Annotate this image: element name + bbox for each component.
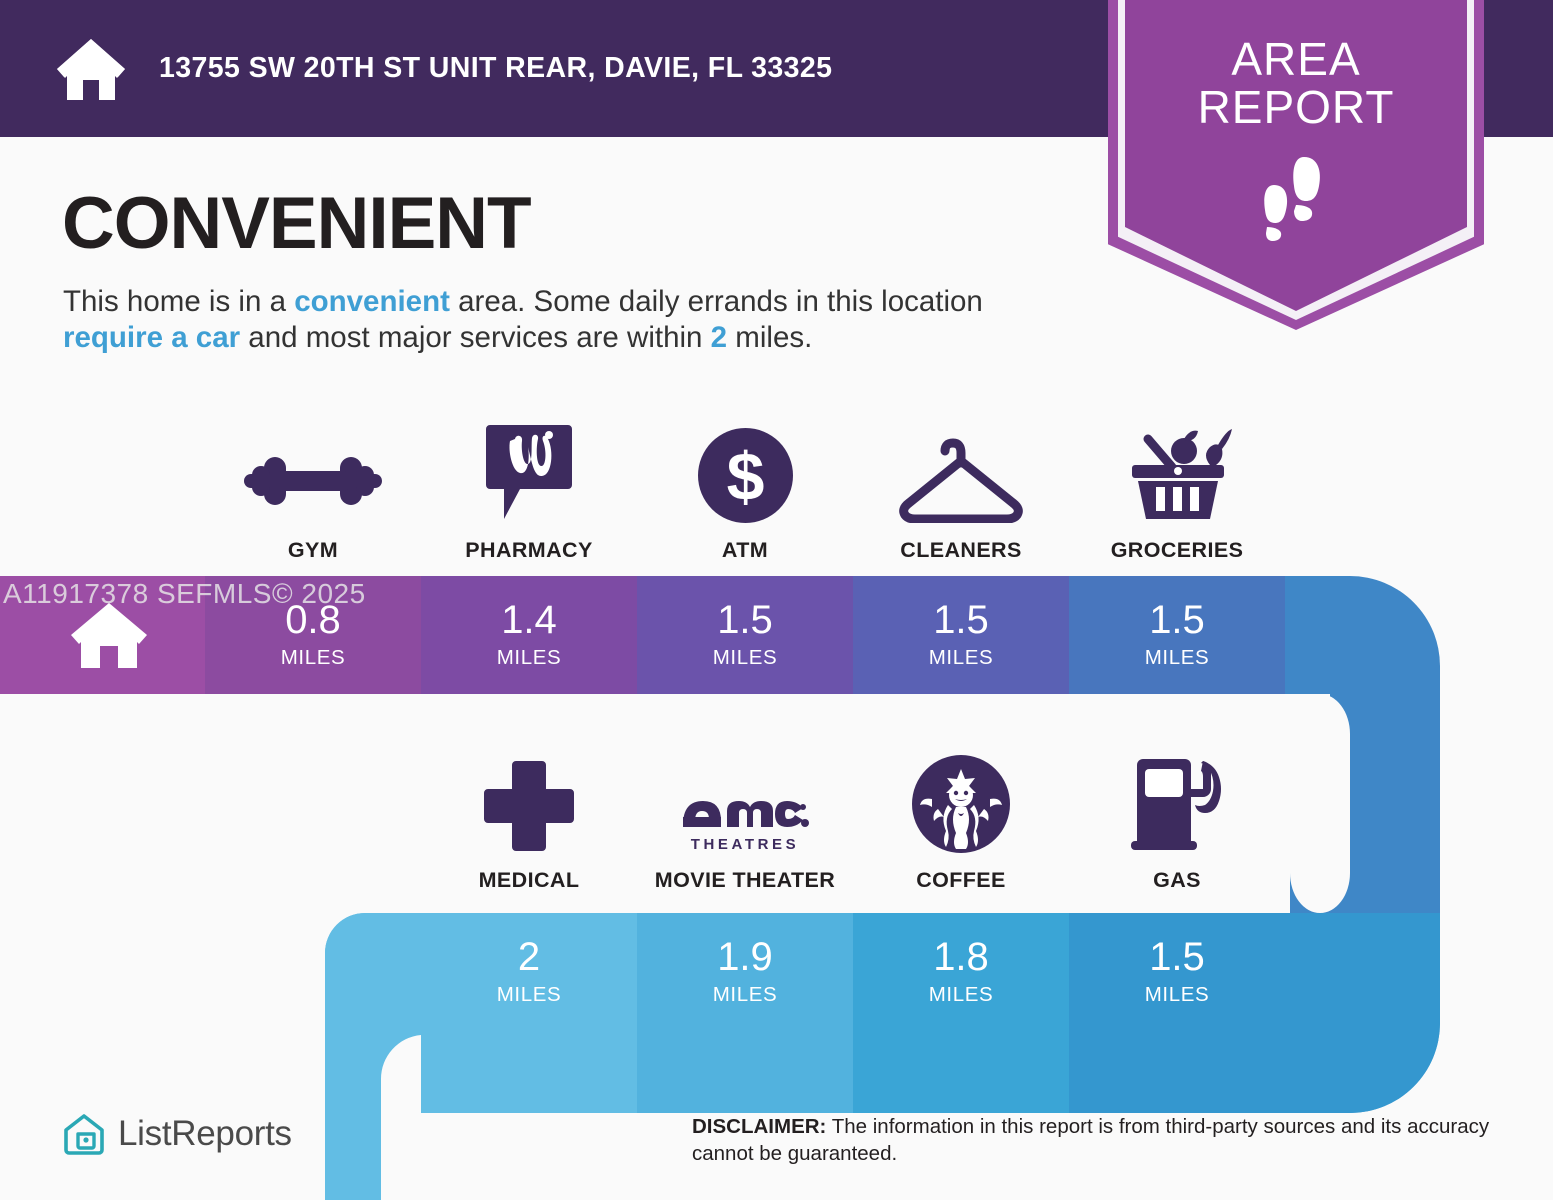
banner-title: AREA REPORT <box>1108 36 1484 132</box>
starbucks-icon <box>912 745 1010 853</box>
listreports-logo-text: ListReports <box>118 1114 292 1154</box>
amenity-label: MOVIE THEATER <box>655 868 835 893</box>
home-icon <box>55 36 127 102</box>
distance-unit: MILES <box>929 983 994 1007</box>
amenity-groceries: GROCERIES <box>1069 415 1285 563</box>
amenity-atm: $ ATM <box>637 415 853 563</box>
distance-cell-medical: 2 MILES <box>421 913 637 1031</box>
distance-cell-gas: 1.5 MILES <box>1069 913 1285 1031</box>
banner-line-2: REPORT <box>1108 84 1484 132</box>
distance-value: 1.5 <box>933 600 989 640</box>
amenity-icon-row-2: MEDICAL THEATRES MOVIE THEATER <box>421 745 1285 893</box>
subtitle-part-1: This home is in a <box>63 285 294 318</box>
amenity-label: MEDICAL <box>479 868 580 893</box>
dollar-circle-icon: $ <box>698 415 793 523</box>
amenity-pharmacy: PHARMACY <box>421 415 637 563</box>
amenity-gym: GYM <box>205 415 421 563</box>
distance-unit: MILES <box>713 983 778 1007</box>
distance-unit: MILES <box>1145 983 1210 1007</box>
amenity-label: GYM <box>288 538 338 563</box>
amenity-label: GROCERIES <box>1111 538 1244 563</box>
area-report-banner: AREA REPORT <box>1108 0 1484 330</box>
footprints-icon <box>1256 155 1336 245</box>
distance-value: 1.5 <box>1149 600 1205 640</box>
distance-unit: MILES <box>929 646 994 670</box>
distance-value: 1.8 <box>933 937 989 977</box>
amenity-label: ATM <box>722 538 768 563</box>
distance-value: 1.5 <box>1149 937 1205 977</box>
subtitle-emphasis-miles: 2 <box>711 321 727 354</box>
distance-unit: MILES <box>497 646 562 670</box>
home-marker-icon <box>70 600 148 670</box>
amenity-gas: GAS <box>1069 745 1285 893</box>
distance-cell-coffee: 1.8 MILES <box>853 913 1069 1031</box>
mls-watermark: A11917378 SEFMLS© 2025 <box>3 578 366 610</box>
area-report-page: 13755 SW 20TH ST UNIT REAR, DAVIE, FL 33… <box>0 0 1553 1200</box>
distance-value: 1.9 <box>717 937 773 977</box>
distance-cell-pharmacy: 1.4 MILES <box>421 576 637 694</box>
distance-unit: MILES <box>281 646 346 670</box>
listreports-logo: ListReports <box>62 1112 292 1156</box>
medical-cross-icon <box>482 745 576 853</box>
subtitle-part-2: area. Some daily errands in this locatio… <box>450 285 983 318</box>
distance-value: 1.5 <box>717 600 773 640</box>
disclaimer: DISCLAIMER: The information in this repo… <box>692 1113 1504 1168</box>
amenity-coffee: COFFEE <box>853 745 1069 893</box>
svg-text:$: $ <box>726 439 764 515</box>
page-subtitle: This home is in a convenient area. Some … <box>63 284 1073 356</box>
basket-icon <box>1118 415 1236 523</box>
page-title: CONVENIENT <box>62 187 531 260</box>
distance-cell-cleaners: 1.5 MILES <box>853 576 1069 694</box>
subtitle-part-3: and most major services are within <box>240 321 711 354</box>
dumbbell-icon <box>244 415 382 523</box>
disclaimer-label: DISCLAIMER: <box>692 1115 826 1138</box>
listreports-logo-icon <box>62 1112 106 1156</box>
amc-theatres-icon: THEATRES <box>681 745 809 853</box>
distance-value: 1.4 <box>501 600 557 640</box>
distance-unit: MILES <box>497 983 562 1007</box>
distance-unit: MILES <box>1145 646 1210 670</box>
distance-cell-movie-theater: 1.9 MILES <box>637 913 853 1031</box>
distance-value: 2 <box>518 937 540 977</box>
amenity-label: GAS <box>1153 868 1201 893</box>
banner-line-1: AREA <box>1108 36 1484 84</box>
subtitle-emphasis-require-car: require a car <box>63 321 240 354</box>
distance-unit: MILES <box>713 646 778 670</box>
amenity-label: PHARMACY <box>465 538 592 563</box>
amenity-cleaners: CLEANERS <box>853 415 1069 563</box>
distance-cell-atm: 1.5 MILES <box>637 576 853 694</box>
amenity-icon-row-1: GYM PHARMACY $ ATM <box>205 415 1285 563</box>
amenity-medical: MEDICAL <box>421 745 637 893</box>
svg-text:THEATRES: THEATRES <box>691 836 800 853</box>
subtitle-part-4: miles. <box>727 321 812 354</box>
walgreens-icon <box>486 415 572 523</box>
distance-cell-groceries: 1.5 MILES <box>1069 576 1285 694</box>
gas-pump-icon <box>1127 745 1227 853</box>
amenity-label: CLEANERS <box>900 538 1021 563</box>
amenity-label: COFFEE <box>916 868 1006 893</box>
hanger-icon <box>899 415 1023 523</box>
amenity-movie-theater: THEATRES MOVIE THEATER <box>637 745 853 893</box>
distance-row-1: 0.8 MILES 1.4 MILES 1.5 MILES 1.5 MILES … <box>205 576 1285 694</box>
distance-row-2: 2 MILES 1.9 MILES 1.8 MILES 1.5 MILES <box>421 913 1285 1031</box>
property-address: 13755 SW 20TH ST UNIT REAR, DAVIE, FL 33… <box>159 52 832 85</box>
subtitle-emphasis-convenient: convenient <box>294 285 450 318</box>
